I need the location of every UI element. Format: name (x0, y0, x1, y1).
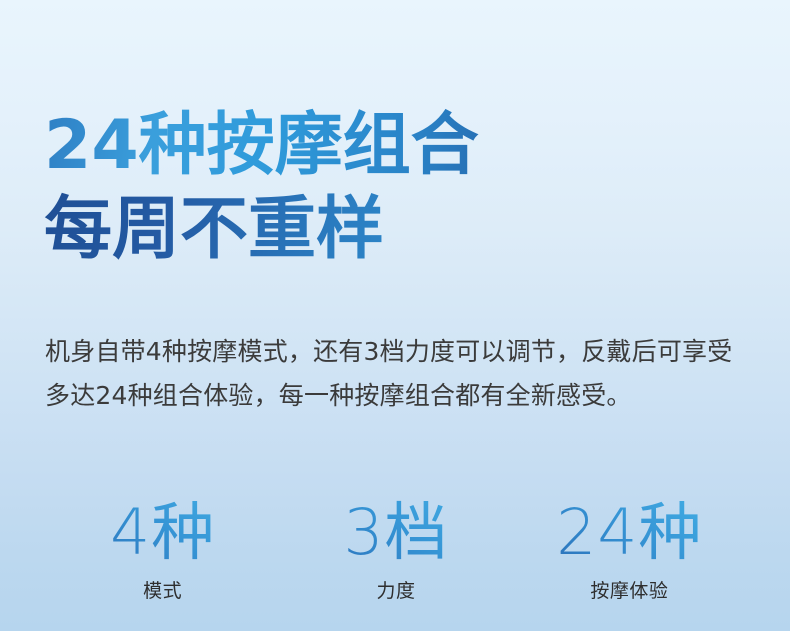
headline-line-2: 每周不重样 (44, 188, 744, 272)
stat-label-intensity: 力度 (279, 578, 512, 604)
headline-block: 24种按摩组合 每周不重样 (44, 104, 744, 272)
stat-value-intensity: 3档 (279, 495, 512, 571)
stat-block-modes: 4种 模式 (46, 495, 279, 604)
stat-block-intensity: 3档 力度 (279, 495, 512, 604)
stat-value-modes: 4种 (46, 495, 279, 571)
stats-row: 4种 模式 3档 力度 24种 按摩体验 (46, 495, 746, 604)
stat-value-experience: 24种 (513, 495, 746, 571)
stat-label-modes: 模式 (46, 578, 279, 604)
stat-label-experience: 按摩体验 (513, 578, 746, 604)
promo-page: 24种按摩组合 每周不重样 机身自带4种按摩模式，还有3档力度可以调节，反戴后可… (0, 0, 790, 631)
body-paragraph: 机身自带4种按摩模式，还有3档力度可以调节，反戴后可享受多达24种组合体验，每一… (45, 330, 747, 418)
stat-block-experience: 24种 按摩体验 (513, 495, 746, 604)
headline-line-1: 24种按摩组合 (44, 104, 744, 188)
